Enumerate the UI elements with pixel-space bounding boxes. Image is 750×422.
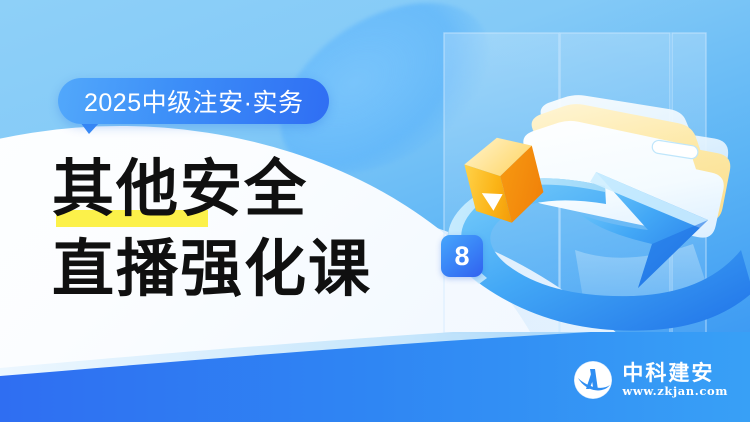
brand-name: 中科建安 [622,362,728,384]
course-illustration [400,0,750,360]
headline-block: 其他安全 直播强化课 8 [52,152,372,306]
brand-url: www.zkjan.com [622,386,728,398]
episode-number-label: 8 [454,243,469,270]
headline-text-1: 其他安全 [52,152,308,226]
course-poster: 2025中级注安·实务 其他安全 直播强化课 8 中科建安 www.zkjan.… [0,0,750,422]
headline-line-1: 其他安全 [52,152,372,226]
episode-number-badge: 8 [441,235,483,277]
brand-logo[interactable]: 中科建安 www.zkjan.com [573,360,728,400]
headline-line-2: 直播强化课 8 [52,232,372,306]
course-category-badge[interactable]: 2025中级注安·实务 [58,78,329,124]
headline-text-2: 直播强化课 [52,232,372,306]
zkjan-circle-logo-icon [573,360,613,400]
brand-text: 中科建安 www.zkjan.com [622,362,728,398]
course-category-label: 2025中级注安·实务 [84,83,303,119]
